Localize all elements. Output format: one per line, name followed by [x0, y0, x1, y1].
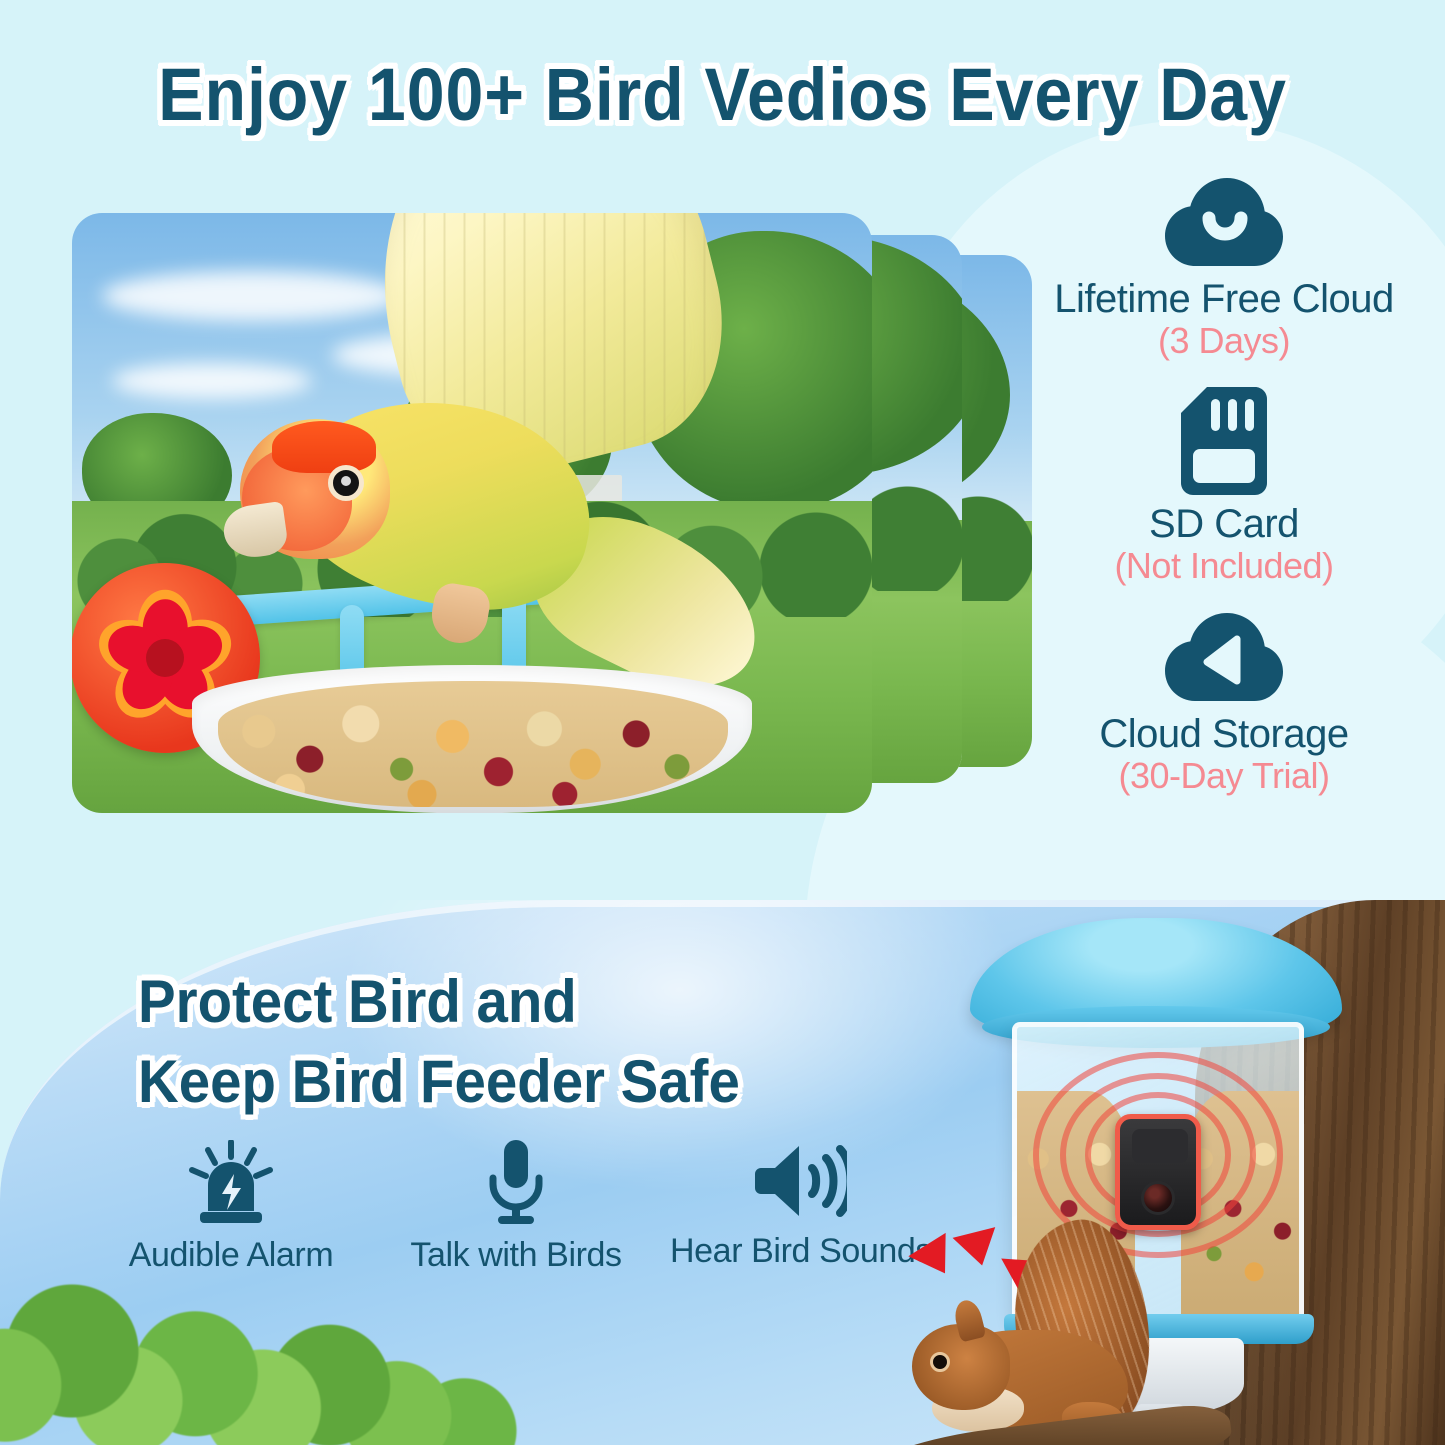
- camera-module: [1115, 1114, 1201, 1230]
- feature-subtitle: (3 Days): [1009, 320, 1439, 361]
- cloud-play-icon: [1165, 613, 1283, 705]
- feature-lifetime-free-cloud[interactable]: Lifetime Free Cloud (3 Days): [1009, 178, 1439, 361]
- feature-title: Cloud Storage: [1009, 713, 1439, 755]
- smart-bird-feeder-camera: [960, 910, 1360, 1440]
- speaker-sound-icon: [755, 1140, 847, 1222]
- alarm-siren-icon: [186, 1140, 276, 1226]
- section-title-line2: Keep Bird Feeder Safe: [138, 1048, 740, 1115]
- section-title-line1: Protect Bird and: [138, 968, 577, 1035]
- feature-talk-with-birds[interactable]: Talk with Birds: [381, 1140, 651, 1275]
- sd-card-icon: [1181, 387, 1267, 495]
- feature-cloud-storage[interactable]: Cloud Storage (30-Day Trial): [1009, 613, 1439, 796]
- section-title: Protect Bird and Keep Bird Feeder Safe: [138, 962, 740, 1123]
- feature-subtitle: (30-Day Trial): [1009, 755, 1439, 796]
- feature-sd-card[interactable]: SD Card (Not Included): [1009, 387, 1439, 586]
- lovebird-foot: [427, 581, 492, 648]
- lovebird-crown: [272, 421, 376, 473]
- top-section: Enjoy 100+ Bird Vedios Every Day: [0, 0, 1445, 900]
- feature-label: Audible Alarm: [96, 1236, 366, 1275]
- feature-subtitle: (Not Included): [1009, 545, 1439, 586]
- feature-title: SD Card: [1009, 503, 1439, 545]
- squirrel: [912, 1226, 1212, 1445]
- camera-lens-icon: [1141, 1181, 1175, 1215]
- feature-label: Hear Bird Sounds: [666, 1232, 936, 1271]
- product-marketing-page: Enjoy 100+ Bird Vedios Every Day: [0, 0, 1445, 1445]
- microphone-icon: [483, 1140, 549, 1226]
- camera-screen: [1132, 1129, 1188, 1163]
- foreground-foliage: [0, 1275, 520, 1445]
- bottom-section: Protect Bird and Keep Bird Feeder Safe: [0, 900, 1445, 1445]
- alert-triangle-icon: [953, 1227, 1004, 1271]
- feature-label: Talk with Birds: [381, 1236, 651, 1275]
- feature-list: Lifetime Free Cloud (3 Days) SD Card (No…: [1009, 178, 1439, 822]
- feature-title: Lifetime Free Cloud: [1009, 278, 1439, 320]
- feature-audible-alarm[interactable]: Audible Alarm: [96, 1140, 366, 1275]
- gallery-card-lovebird[interactable]: [72, 213, 872, 813]
- lovebird-eye: [328, 465, 364, 501]
- lovebird: [132, 233, 832, 703]
- bird-seed: [218, 681, 728, 807]
- protection-feature-list: Audible Alarm Talk with Birds: [96, 1140, 936, 1275]
- cloud-smile-icon: [1165, 178, 1283, 270]
- feature-hear-bird-sounds[interactable]: Hear Bird Sounds: [666, 1140, 936, 1275]
- bird-video-gallery: [72, 213, 1032, 813]
- squirrel-eye: [930, 1352, 950, 1372]
- page-title: Enjoy 100+ Bird Vedios Every Day: [58, 52, 1387, 137]
